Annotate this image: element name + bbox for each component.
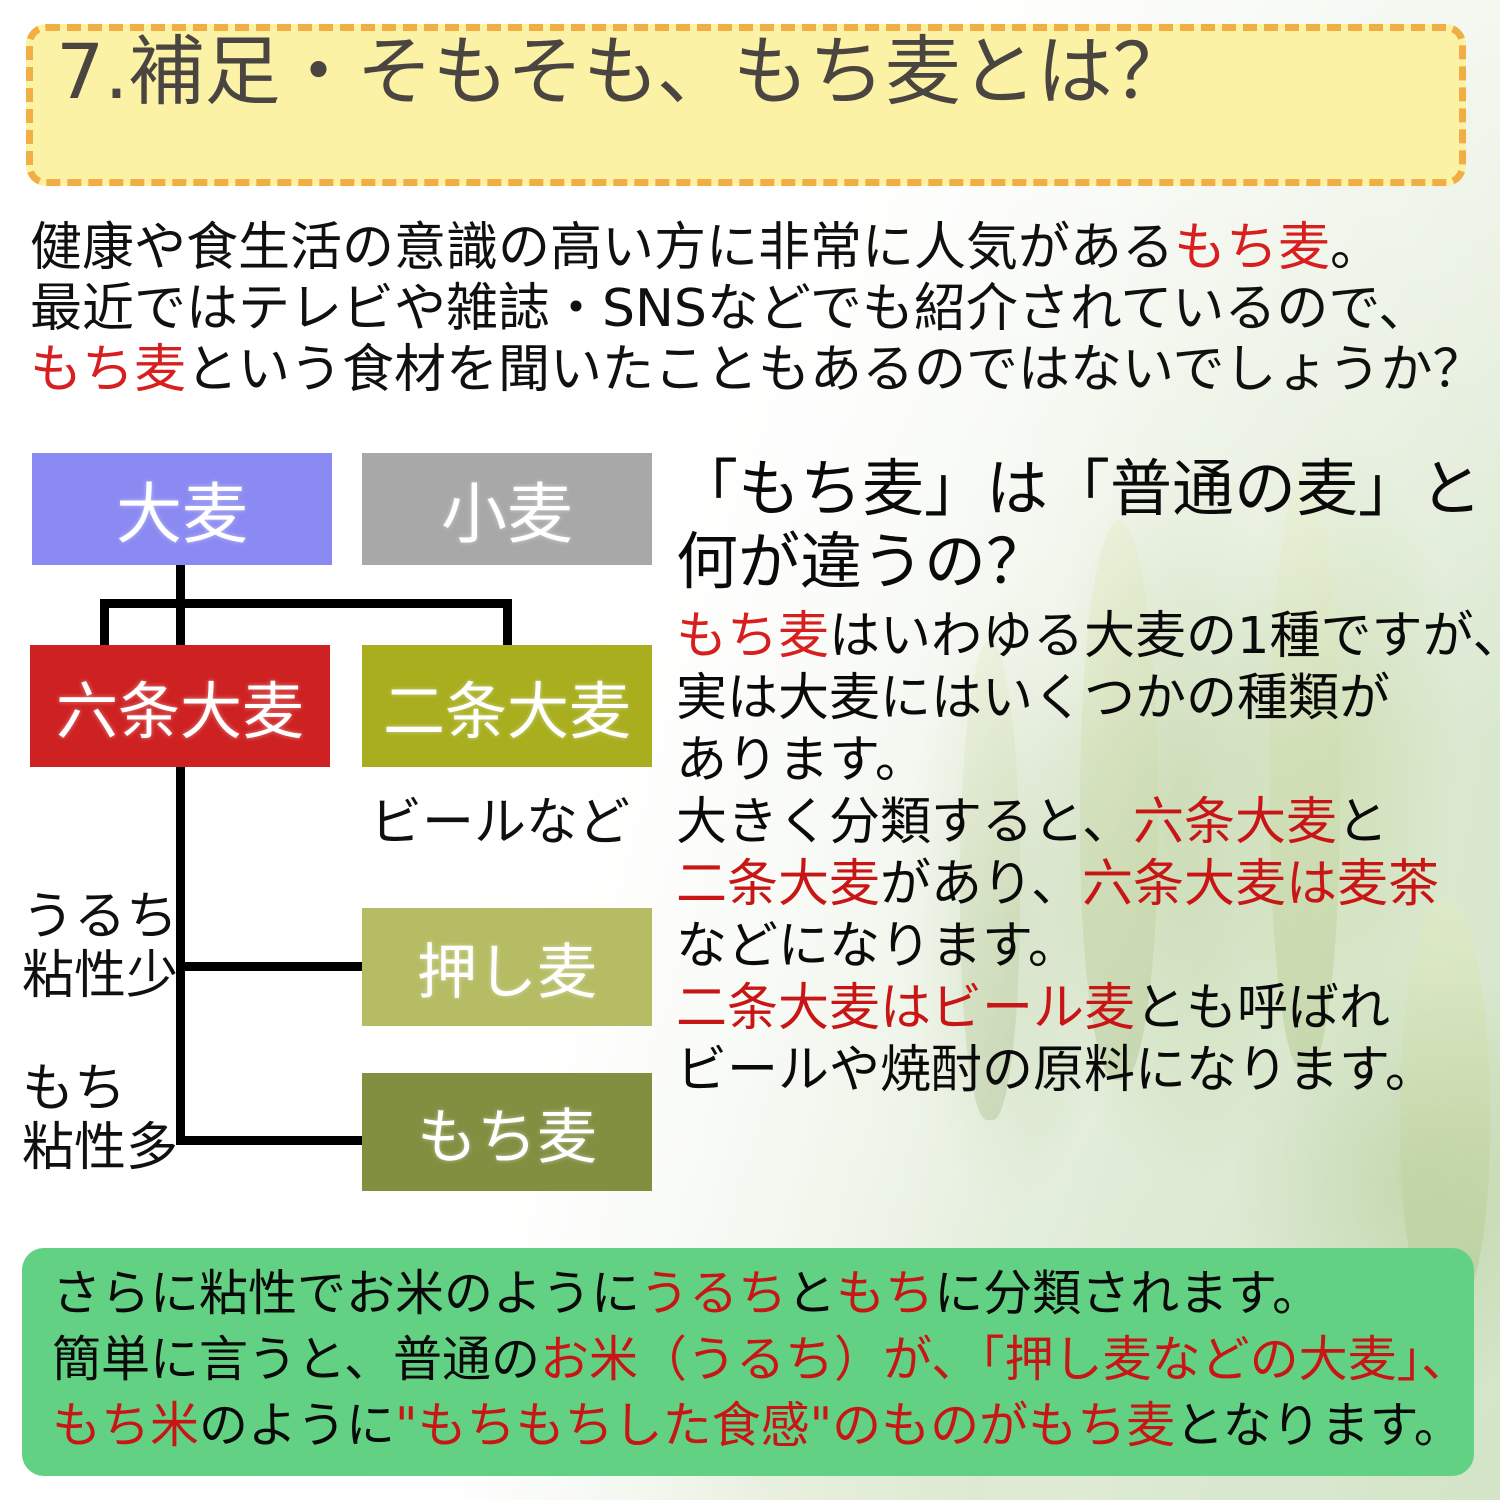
diagram-node-rokujo-oomugi: 六条大麦 [30,645,330,767]
connector-to-oshimugi [176,962,366,971]
diagram-node-nijo-oomugi: 二条大麦 [362,645,652,767]
right-body-line-3: あります。 [676,730,1486,792]
diagram-node-oomugi: 大麦 [32,453,332,565]
right-body-line-4-highlight: 六条大麦 [1133,793,1337,852]
right-body-line-5: 二条大麦があり、六条大麦は麦茶 [676,854,1486,916]
footer-line-3-text: のように [199,1397,395,1454]
footer-line-3: もち米のように"もちもちした食感"のものがもち麦となります。 [52,1394,1452,1460]
summary-callout-text: さらに粘性でお米のようにうるちともちに分類されます。 簡単に言うと、普通のお米（… [52,1262,1452,1460]
footer-line-1: さらに粘性でお米のようにうるちともちに分類されます。 [52,1262,1452,1328]
diagram-label-mochi: もち 粘性多 [22,1060,178,1178]
footer-line-1-text: さらに粘性でお米のように [52,1265,640,1322]
right-column-body: もち麦はいわゆる大麦の1種ですが、 実は大麦にはいくつかの種類が あります。 大… [676,606,1486,1102]
intro-line-1-highlight: もち麦 [1174,218,1330,278]
footer-line-2-text: 簡単に言うと、普通の [52,1331,540,1388]
diagram-label-uruchi: うるち 粘性少 [22,888,178,1006]
right-column: 「もち麦」は「普通の麦」と 何が違うの？ もち麦はいわゆる大麦の1種ですが、 実… [676,452,1486,1102]
infographic-page: 7.補足・そもそも、もち麦とは？ 健康や食生活の意識の高い方に非常に人気があるも… [0,0,1500,1500]
right-body-line-1: もち麦はいわゆる大麦の1種ですが、 [676,606,1486,668]
footer-line-2: 簡単に言うと、普通のお米（うるち）が、「押し麦などの大麦」、 [52,1328,1452,1394]
right-body-line-2: 実は大麦にはいくつかの種類が [676,668,1486,730]
connector-horizontal-top [100,599,512,608]
diagram-label-beer: ビールなど [370,780,630,855]
diagram-label-uruchi-line2: 粘性少 [22,947,178,1006]
right-body-line-5-text: があり、 [880,855,1082,914]
footer-line-1-tail: に分類されます。 [934,1265,1321,1322]
footer-line-3-highlight-2: "もちもちした食感"のものがもち麦 [395,1397,1175,1454]
right-body-line-7-text: とも呼ばれ [1135,979,1390,1038]
diagram-node-mochimugi: もち麦 [362,1073,652,1191]
right-heading-line2: 何が違うの？ [676,525,1486,598]
right-body-line-1-text: はいわゆる大麦の1種ですが、 [829,607,1500,666]
diagram-label-mochi-line2: 粘性多 [22,1119,178,1178]
footer-line-2-highlight: お米（うるち）が、「押し麦などの大麦」、 [540,1331,1470,1388]
intro-line-1-tail: 。 [1330,218,1382,278]
connector-to-mochimugi [176,1136,366,1145]
right-body-line-1-highlight: もち麦 [676,607,829,666]
right-body-line-5-highlight-2: 六条大麦は麦茶 [1082,855,1439,914]
right-body-line-4-text: 大きく分類すると、 [676,793,1133,852]
diagram-label-uruchi-line1: うるち [22,888,178,947]
right-body-line-7-highlight: 二条大麦はビール麦 [676,979,1135,1038]
footer-line-3-highlight-1: もち米 [52,1397,199,1454]
connector-to-rokujo [100,599,109,647]
diagram-node-komugi: 小麦 [362,453,652,565]
diagram-label-mochi-line1: もち [22,1060,178,1119]
footer-line-3-tail: となります。 [1175,1397,1463,1454]
right-heading-line1: 「もち麦」は「普通の麦」と [676,452,1486,525]
right-body-line-7: 二条大麦はビール麦とも呼ばれ [676,978,1486,1040]
footer-line-1-highlight-1: うるち [640,1265,787,1322]
right-column-heading: 「もち麦」は「普通の麦」と 何が違うの？ [676,452,1486,598]
right-body-line-4: 大きく分類すると、六条大麦と [676,792,1486,854]
right-body-line-4-tail: と [1337,793,1388,852]
right-body-line-8: ビールや焼酎の原料になります。 [676,1040,1486,1102]
connector-to-nijo [503,599,512,647]
right-body-line-5-highlight-1: 二条大麦 [676,855,880,914]
right-body-line-6: などになります。 [676,916,1486,978]
diagram-node-oshimugi: 押し麦 [362,908,652,1026]
footer-line-1-mid: と [787,1265,836,1322]
footer-line-1-highlight-2: もち [836,1265,934,1322]
